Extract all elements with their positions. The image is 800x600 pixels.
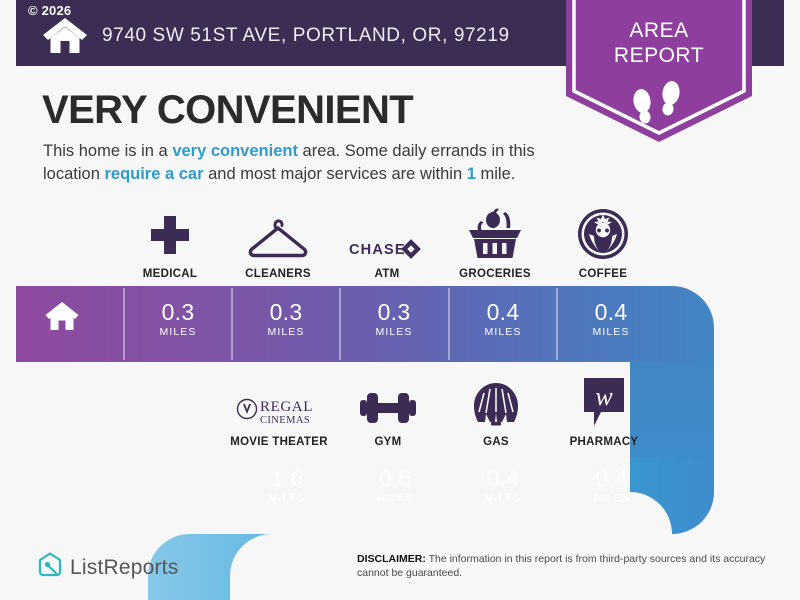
category-atm: CHASE ATM	[333, 204, 441, 280]
page-title: VERY CONVENIENT	[42, 88, 413, 133]
area-report-page: © 2026 9740 SW 51ST AVE, PORTLAND, OR, 9…	[0, 0, 800, 600]
listreports-logo	[38, 552, 62, 583]
distance-unit: MILES	[557, 326, 665, 338]
home-icon	[42, 16, 88, 54]
category-label: GYM	[334, 436, 442, 448]
category-label: PHARMACY	[550, 436, 658, 448]
summary-description: This home is in a very convenient area. …	[43, 140, 563, 186]
distance-gym: 0.6 MILES	[341, 466, 449, 504]
distance-value: 0.3	[340, 300, 448, 325]
clothes-hanger-icon	[224, 204, 332, 260]
distance-unit: MILES	[449, 492, 557, 504]
distance-pharmacy: 0.4 MILES	[558, 466, 666, 504]
badge-label: AREA REPORT	[566, 18, 752, 68]
property-address: 9740 SW 51ST AVE, PORTLAND, OR, 97219	[102, 25, 510, 47]
distance-unit: MILES	[449, 326, 557, 338]
distance-medical: 0.3 MILES	[124, 300, 232, 338]
distance-value: 0.3	[124, 300, 232, 325]
distance-value: 0.4	[558, 466, 666, 491]
distance-unit: MILES	[232, 326, 340, 338]
distance-value: 1.6	[233, 466, 341, 491]
shopping-basket-icon	[441, 204, 549, 260]
distance-value: 0.3	[232, 300, 340, 325]
chase-bank-logo: CHASE	[333, 204, 441, 260]
disclaimer: DISCLAIMER: The information in this repo…	[357, 552, 777, 580]
category-gym: GYM	[334, 372, 442, 448]
distance-gas: 0.4 MILES	[449, 466, 557, 504]
distance-unit: MILES	[558, 492, 666, 504]
badge-line-1: AREA	[566, 18, 752, 43]
distance-value: 0.6	[341, 466, 449, 491]
distance-cleaners: 0.3 MILES	[232, 300, 340, 338]
desc-text-4: mile.	[476, 165, 515, 183]
shell-logo	[442, 372, 550, 428]
desc-highlight-3: 1	[467, 165, 476, 183]
category-coffee: COFFEE	[549, 204, 657, 280]
listreports-brand: ListReports	[38, 552, 178, 583]
category-label: GAS	[442, 436, 550, 448]
category-groceries: GROCERIES	[441, 204, 549, 280]
desc-highlight-2: require a car	[104, 165, 203, 183]
disclaimer-label: DISCLAIMER:	[357, 553, 426, 565]
svg-text:w: w	[595, 382, 613, 411]
regal-cinemas-logo: REGAL CINEMAS	[225, 372, 333, 428]
distance-unit: MILES	[233, 492, 341, 504]
distance-unit: MILES	[341, 492, 449, 504]
category-movie-theater: REGAL CINEMAS MOVIE THEATER	[225, 372, 333, 448]
desc-highlight-1: very convenient	[172, 142, 298, 160]
distance-value: 0.4	[449, 466, 557, 491]
walgreens-logo: w	[550, 372, 658, 428]
category-cleaners: CLEANERS	[224, 204, 332, 280]
desc-text-1: This home is in a	[43, 142, 172, 160]
brand-name: ListReports	[70, 556, 178, 580]
distance-movie-theater: 1.6 MILES	[233, 466, 341, 504]
category-pharmacy: w PHARMACY	[550, 372, 658, 448]
category-gas: GAS	[442, 372, 550, 448]
category-label: MOVIE THEATER	[225, 436, 333, 448]
svg-text:CINEMAS: CINEMAS	[260, 415, 310, 426]
medical-cross-icon	[116, 204, 224, 260]
distance-value: 0.4	[449, 300, 557, 325]
desc-text-3: and most major services are within	[204, 165, 467, 183]
area-report-badge: AREA REPORT	[566, 0, 752, 142]
distance-coffee: 0.4 MILES	[557, 300, 665, 338]
distance-unit: MILES	[124, 326, 232, 338]
dumbbell-icon	[334, 372, 442, 428]
svg-text:CHASE: CHASE	[349, 242, 406, 258]
svg-text:REGAL: REGAL	[260, 399, 313, 415]
badge-line-2: REPORT	[566, 43, 752, 68]
starbucks-logo	[549, 204, 657, 260]
distance-groceries: 0.4 MILES	[449, 300, 557, 338]
home-icon	[45, 301, 79, 331]
distance-atm: 0.3 MILES	[340, 300, 448, 338]
category-medical: MEDICAL	[116, 204, 224, 280]
distance-value: 0.4	[557, 300, 665, 325]
distance-unit: MILES	[340, 326, 448, 338]
